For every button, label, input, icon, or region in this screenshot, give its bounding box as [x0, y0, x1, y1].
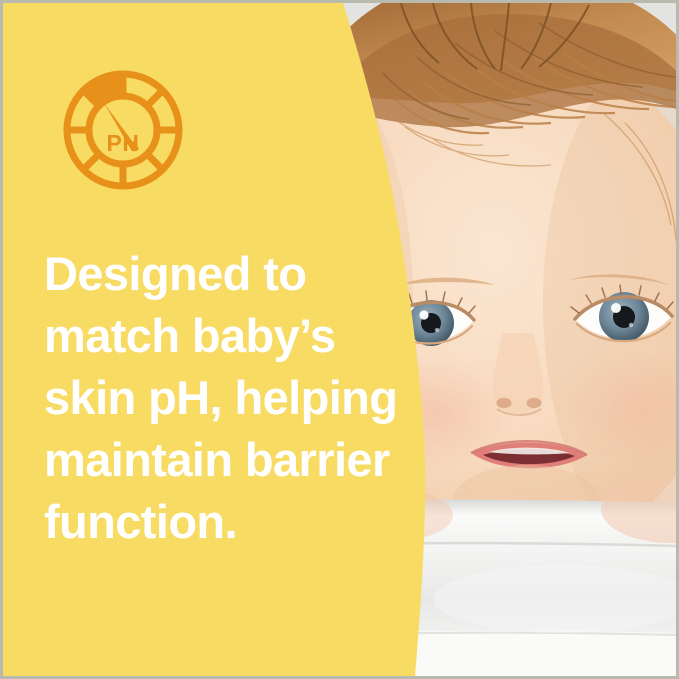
product-benefit-banner: PH Designed to match baby’s skin pH, hel…: [0, 0, 679, 679]
banner-stage: PH Designed to match baby’s skin pH, hel…: [3, 3, 676, 676]
ph-gauge-icon: PH: [58, 65, 188, 195]
page-title: Designed to match baby’s skin pH, helpin…: [44, 243, 419, 553]
ph-gauge-label: PH: [107, 130, 140, 156]
panel-content: PH Designed to match baby’s skin pH, hel…: [3, 3, 423, 676]
